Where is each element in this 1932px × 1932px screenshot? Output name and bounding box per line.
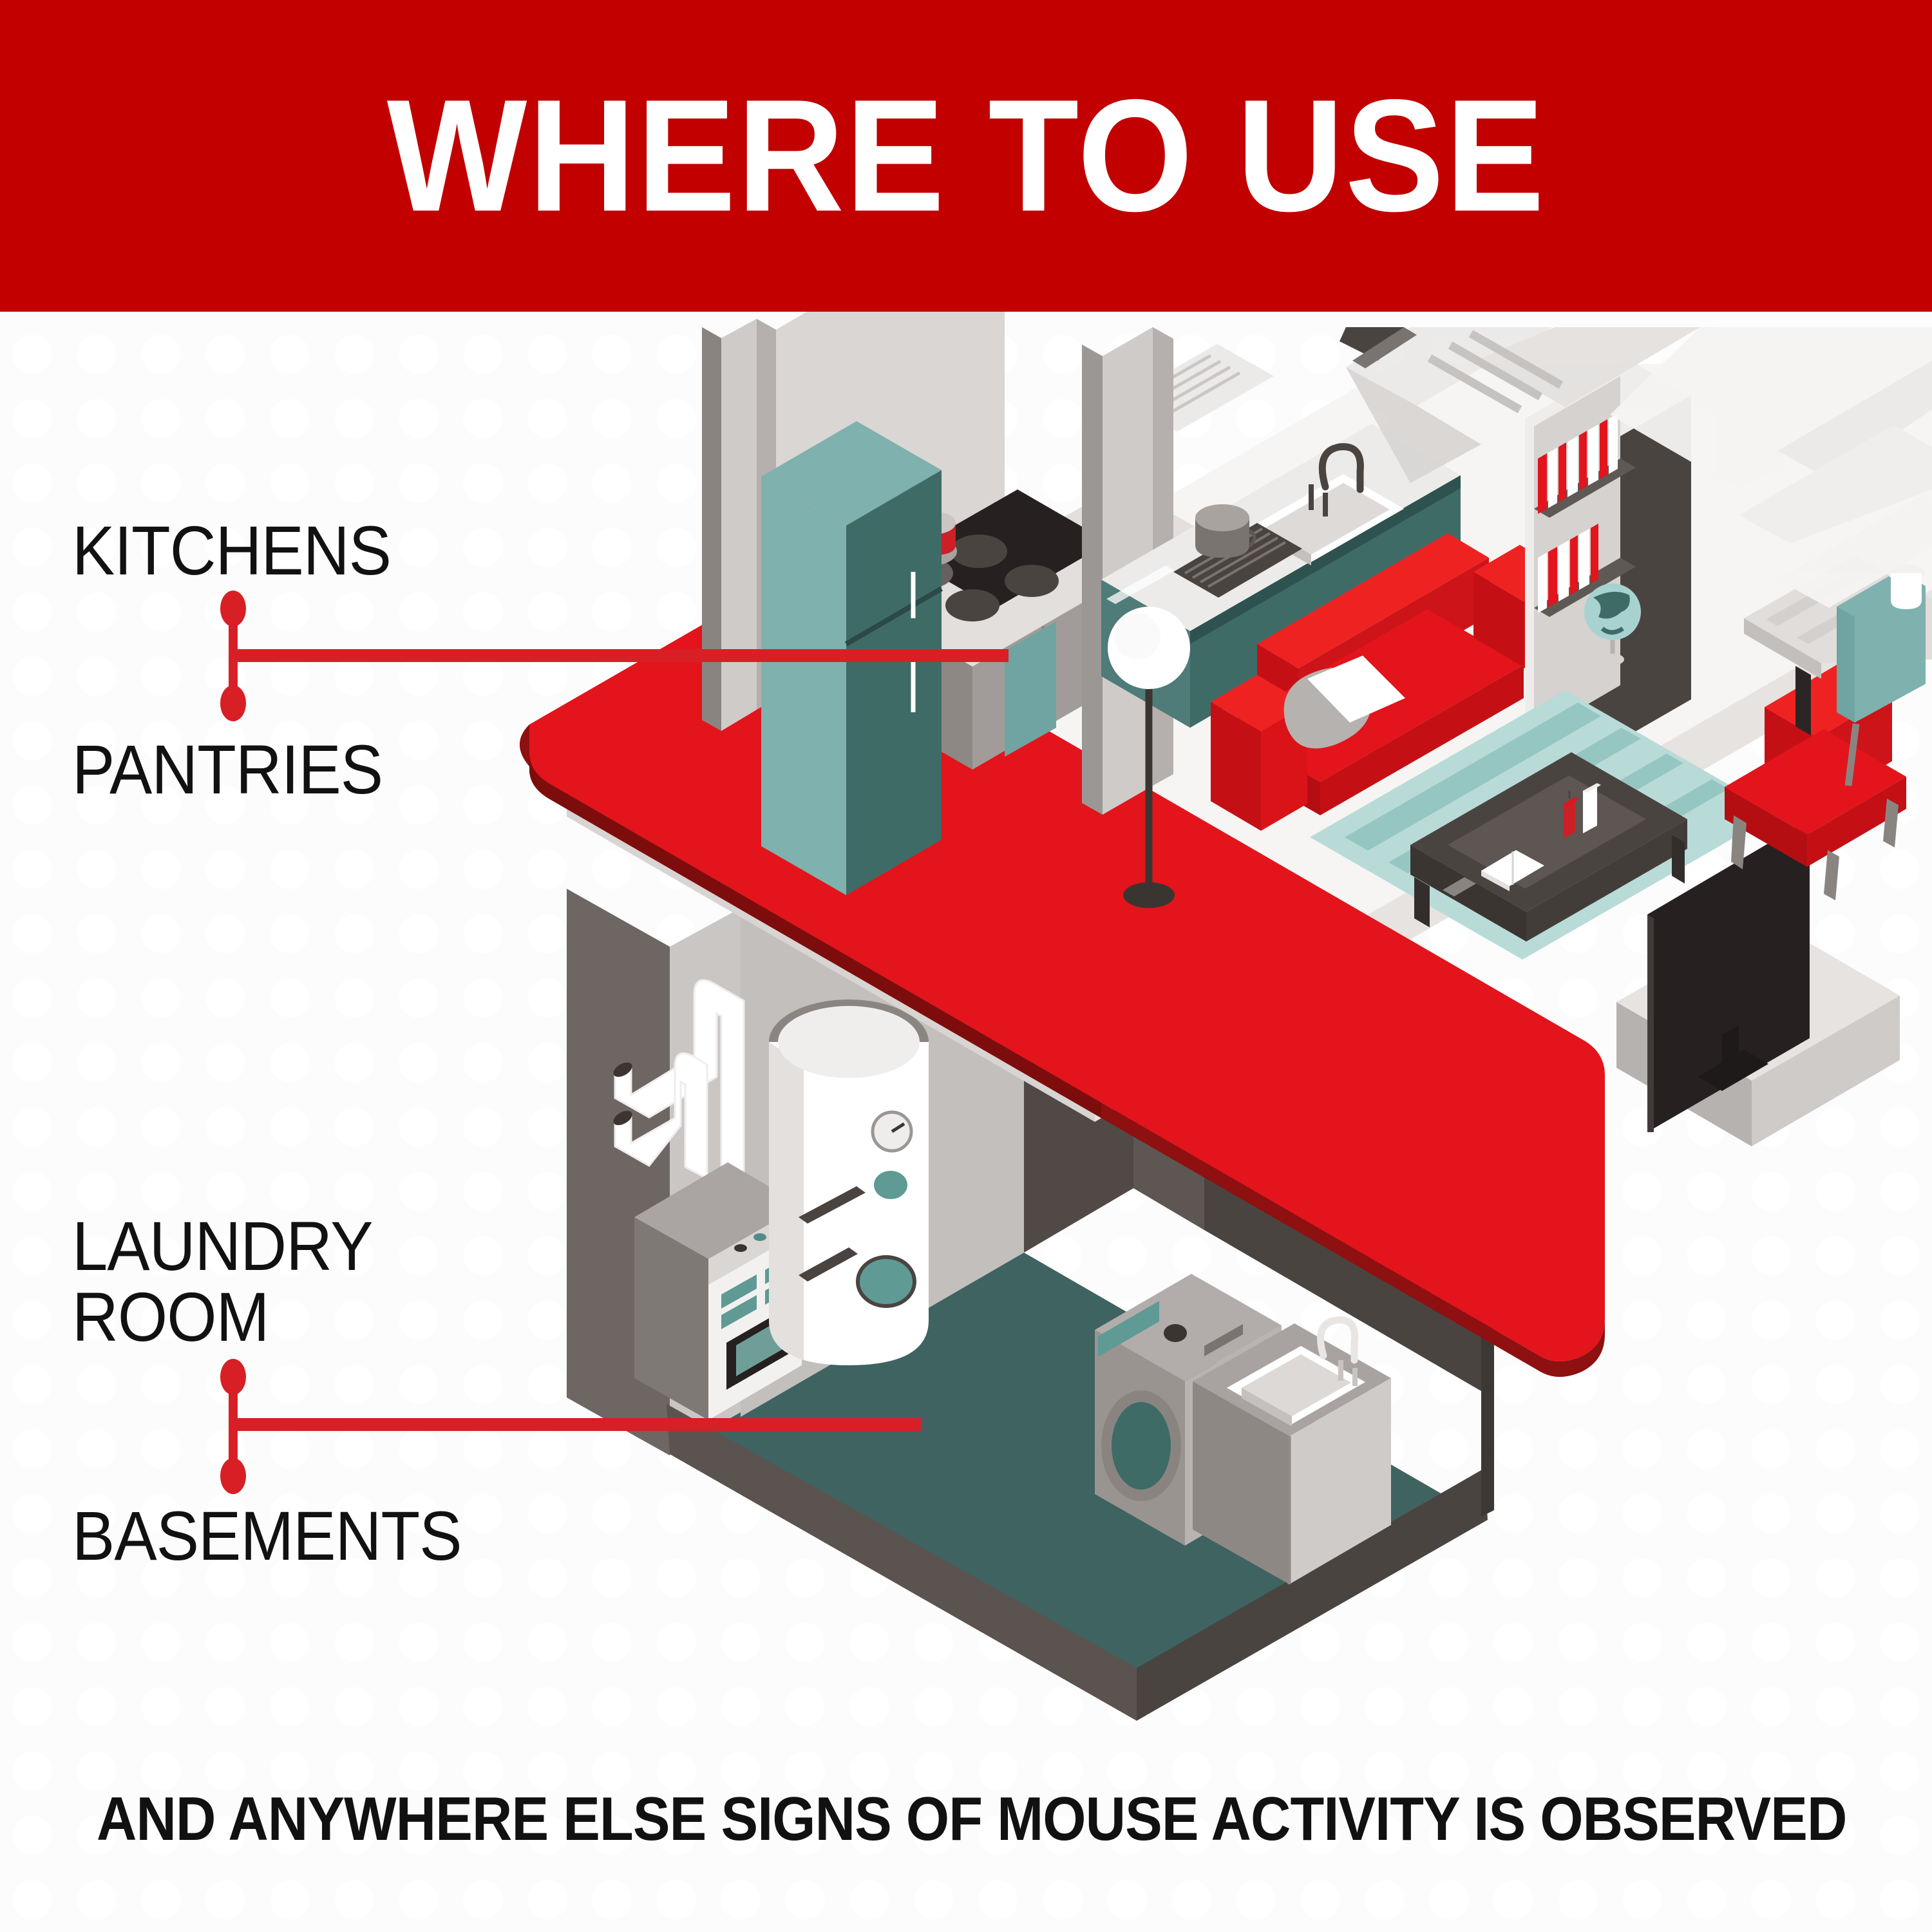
room-label-kitchens: KITCHENS — [72, 515, 391, 586]
lower-leader-dot-bottom — [220, 1458, 246, 1494]
lower-leader-line — [220, 1359, 921, 1494]
leader-lines-overlay — [0, 0, 1932, 1932]
room-label-basements: BASEMENTS — [72, 1501, 462, 1571]
upper-leader-dot-top — [220, 591, 246, 627]
footer-caption: AND ANYWHERE ELSE SIGNS OF MOUSE ACTIVIT… — [97, 1784, 1835, 1855]
upper-leader-line — [220, 591, 1009, 721]
upper-leader-dot-bottom — [220, 685, 246, 721]
room-label-pantries: PANTRIES — [72, 734, 383, 805]
lower-leader-dot-top — [220, 1359, 246, 1395]
room-label-laundry-room: LAUNDRY ROOM — [72, 1211, 373, 1352]
